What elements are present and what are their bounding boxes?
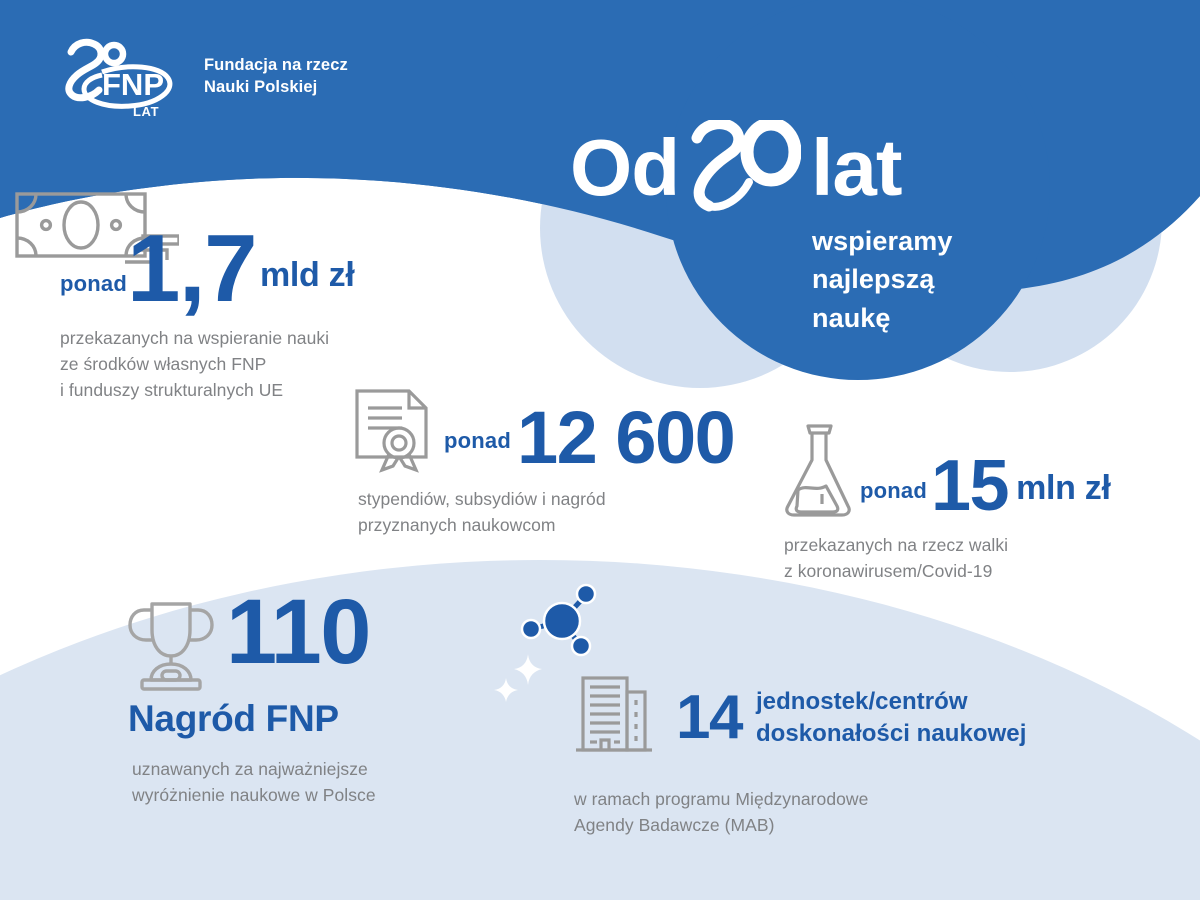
stat-units: 14 jednostek/centrów doskonałości naukow…	[570, 672, 1110, 839]
flask-icon	[778, 420, 856, 520]
stat-covid-row: ponad 15 mln zł	[778, 418, 1198, 518]
stat-certificates-description: stypendiów, subsydiów i nagród przyznany…	[358, 486, 792, 539]
hero-number-30	[689, 120, 801, 216]
stat-certificates-value: 12 600	[517, 405, 734, 470]
stat-awards-row: 110	[128, 592, 548, 692]
stat-money-unit: mld zł	[260, 256, 355, 295]
stat-certificates-prefix: ponad	[444, 428, 511, 454]
stat-awards: 110 Nagród FNP uznawanych za najważniejs…	[128, 592, 548, 809]
stat-money: ponad 1,7 mld zł przekazanych na wspiera…	[60, 228, 480, 403]
org-name: Fundacja na rzecz Nauki Polskiej	[204, 55, 348, 99]
hero-headline: Od lat	[570, 120, 1050, 216]
svg-text:FNP: FNP	[102, 67, 164, 102]
stat-units-value: 14	[676, 690, 742, 746]
stat-covid-prefix: ponad	[860, 478, 927, 504]
stat-money-row: ponad 1,7 mld zł	[60, 228, 480, 311]
stat-awards-description: uznawanych za najważniejsze wyróżnienie …	[132, 756, 548, 809]
svg-text:LAT: LAT	[133, 104, 159, 118]
stat-units-row: 14 jednostek/centrów doskonałości naukow…	[570, 672, 1110, 764]
stat-awards-sublabel: Nagród FNP	[128, 698, 548, 740]
stat-covid: ponad 15 mln zł przekazanych na rzecz wa…	[778, 418, 1198, 585]
hero-subtitle: wspieramy najlepszą naukę	[812, 222, 952, 337]
stat-money-prefix: ponad	[60, 271, 127, 297]
stat-units-label: jednostek/centrów doskonałości naukowej	[756, 686, 1026, 750]
fnp-logo-mark: FNP LAT	[58, 36, 190, 118]
infographic-canvas: FNP LAT Fundacja na rzecz Nauki Polskiej…	[0, 0, 1200, 900]
stat-money-value: 1,7	[127, 228, 256, 311]
trophy-icon	[128, 598, 214, 698]
stat-awards-value: 110	[226, 592, 370, 673]
stat-certificates-row: ponad 12 600	[352, 382, 792, 470]
hero-word-od: Od	[570, 128, 679, 208]
buildings-icon	[570, 672, 662, 764]
stat-covid-unit: mln zł	[1016, 469, 1111, 508]
hero-word-lat: lat	[811, 128, 901, 208]
certificate-icon	[352, 386, 438, 474]
stat-certificates: ponad 12 600 stypendiów, subsydiów i nag…	[352, 382, 792, 539]
fnp-logo: FNP LAT Fundacja na rzecz Nauki Polskiej	[58, 36, 348, 118]
stat-covid-value: 15	[931, 455, 1008, 518]
stat-covid-description: przekazanych na rzecz walki z koronawiru…	[784, 532, 1198, 585]
stat-units-description: w ramach programu Międzynarodowe Agendy …	[574, 786, 1110, 839]
